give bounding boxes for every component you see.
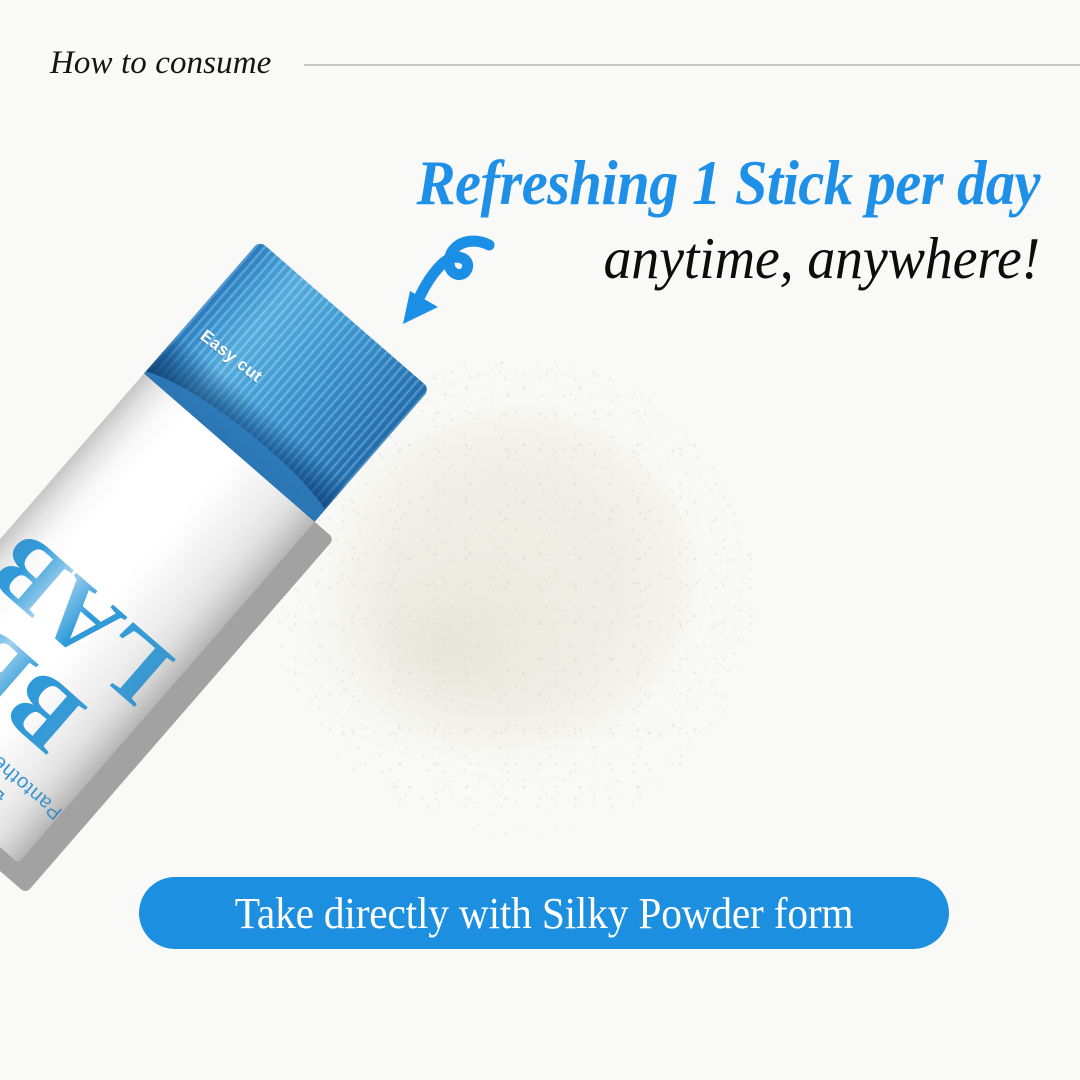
promo-image-canvas: How to consume Refreshing 1 Stick per da… (0, 0, 1080, 1080)
page-title: How to consume (50, 45, 271, 82)
header: How to consume (0, 40, 1080, 86)
cta-label: Take directly with Silky Powder form (235, 888, 854, 939)
brand-logo-text: BB LAB (0, 509, 197, 799)
curly-arrow-icon (393, 231, 503, 329)
header-divider (304, 64, 1080, 66)
headline-primary: Refreshing 1 Stick per day (73, 152, 1040, 215)
cta-banner[interactable]: Take directly with Silky Powder form (139, 877, 949, 949)
